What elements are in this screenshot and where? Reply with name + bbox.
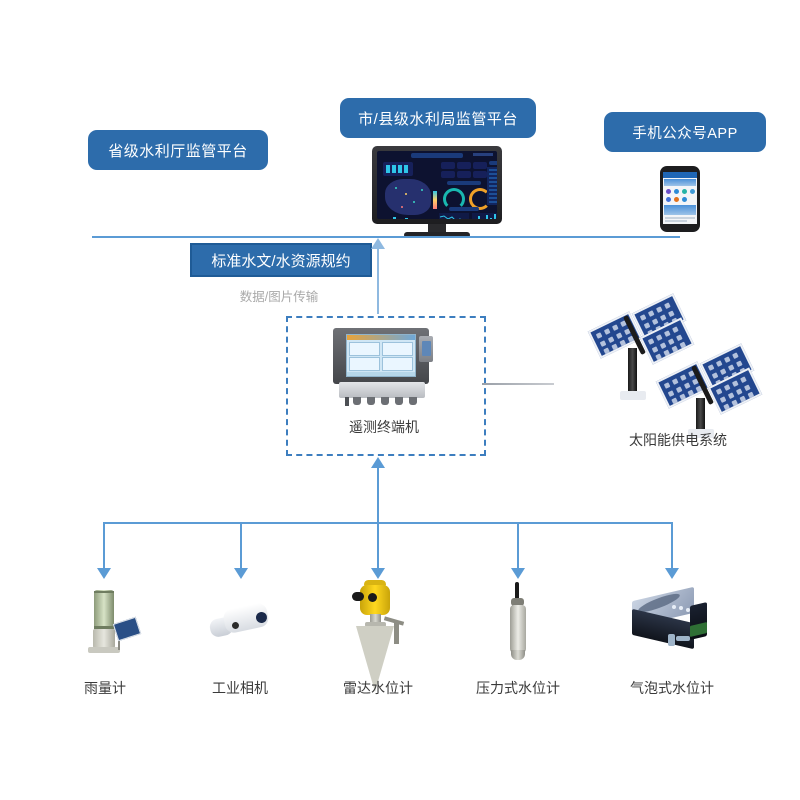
rtu-label: 遥测终端机 <box>286 417 482 437</box>
rtu-screen-panel <box>382 357 413 371</box>
metric-chip <box>457 162 471 169</box>
rtu-cable-gland <box>395 397 403 405</box>
sensor-illustration-rain-gauge <box>78 588 142 660</box>
list-row <box>489 177 497 179</box>
rtu-cable-gland <box>353 397 361 405</box>
list-row <box>489 201 497 203</box>
rtu-device-illustration <box>327 328 441 404</box>
rtu-screen-panel <box>382 342 413 356</box>
network-backbone-line <box>92 236 680 238</box>
donut-section-title <box>447 181 481 185</box>
platform-label-province: 省级水利厅监管平台 <box>108 140 248 161</box>
rtu-cable-gland <box>409 397 417 405</box>
line-chart-path <box>439 213 469 219</box>
platform-chip-app[interactable]: 手机公众号APP <box>604 112 766 152</box>
phone-app-header <box>663 172 697 178</box>
list-row <box>489 189 497 191</box>
list-row <box>489 169 497 171</box>
map-legend <box>433 191 437 209</box>
rtu-lower-body <box>339 382 425 398</box>
monitor-illustration <box>372 146 502 224</box>
phone-app-icon <box>682 197 687 202</box>
metric-chip <box>457 171 471 178</box>
bar <box>490 218 492 219</box>
list-row <box>489 193 497 195</box>
phone-app-icon <box>666 197 671 202</box>
sensor-label-industrial-camera: 工业相机 <box>180 678 300 698</box>
bubbler-fitting <box>676 636 690 641</box>
rtu-antenna-stub <box>345 397 349 406</box>
map-dot <box>395 187 397 189</box>
phone-app-icon <box>690 189 695 194</box>
bar <box>405 218 408 219</box>
sensor-label-pressure-level: 压力式水位计 <box>458 678 578 698</box>
sensor-illustration-pressure-level <box>504 582 534 664</box>
protocol-box[interactable]: 标准水文/水资源规约 <box>190 243 372 277</box>
bar <box>393 217 396 219</box>
sensor-drop-line-industrial-camera <box>240 522 242 570</box>
metric-chip <box>473 171 487 178</box>
phone-app-icon <box>682 189 687 194</box>
radar-bracket-plate <box>394 621 399 644</box>
phone-app-icon <box>666 189 671 194</box>
bubbler-led <box>686 608 690 612</box>
solar-pole <box>628 348 637 394</box>
sensor-label-radar-level: 雷达水位计 <box>318 678 438 698</box>
sensor-illustration-industrial-camera <box>208 598 276 652</box>
list-row <box>489 173 497 175</box>
rtu-screen-panel <box>349 342 380 356</box>
pressure-sensor-body <box>510 605 526 653</box>
sensor-drop-line-rain-gauge <box>103 522 105 570</box>
bubbler-led <box>679 606 683 610</box>
china-map <box>385 179 431 215</box>
sensor-illustration-radar-level <box>348 580 410 662</box>
rain-gauge-band <box>94 591 114 593</box>
solar-pole <box>696 398 705 432</box>
uplink-line <box>377 248 379 314</box>
rtu-connector-port <box>422 341 431 356</box>
kpi-bar <box>404 165 408 173</box>
protocol-caption: 数据/图片传输 <box>190 286 368 305</box>
pressure-sensor-tip <box>511 650 525 660</box>
kpi-bar <box>392 165 396 173</box>
diagram-canvas: 省级水利厅监管平台 市/县级水利局监管平台 手机公众号APP <box>0 0 800 800</box>
bubbler-led <box>672 605 676 609</box>
phone-illustration <box>660 166 700 232</box>
phone-app-icon <box>674 189 679 194</box>
map-dot <box>413 201 415 203</box>
solar-power-label: 太阳能供电系统 <box>590 430 766 450</box>
bar <box>486 215 488 219</box>
phone-app-list-line <box>665 220 687 222</box>
list-row <box>489 197 497 199</box>
solar-pole-base <box>620 391 646 400</box>
trend-section-title <box>449 207 479 211</box>
kpi-bar <box>386 165 390 173</box>
platform-chip-city[interactable]: 市/县级水利局监管平台 <box>340 98 536 138</box>
bar <box>494 214 496 219</box>
solar-power-illustration <box>588 298 768 438</box>
sensor-label-rain-gauge: 雨量计 <box>45 678 165 698</box>
map-dot <box>405 193 407 195</box>
phone-screen <box>663 172 697 224</box>
phone-app-icon <box>674 197 679 202</box>
rtu-screen-statusbar <box>347 372 415 376</box>
radar-connector <box>352 592 364 601</box>
bubbler-valve <box>668 634 675 646</box>
protocol-label: 标准水文/水资源规约 <box>211 250 350 271</box>
rtu-screen-titlebar <box>347 335 415 340</box>
metric-chip <box>441 171 455 178</box>
map-dot <box>421 189 423 191</box>
rain-gauge-tube <box>94 590 114 628</box>
platform-label-app: 手机公众号APP <box>632 122 738 143</box>
sensor-drop-arrow-icon-radar-level <box>371 568 385 579</box>
phone-app-list-line <box>665 217 695 219</box>
rain-gauge-foot <box>88 647 120 653</box>
metric-chip <box>441 162 455 169</box>
sensor-drop-line-radar-level <box>377 522 379 570</box>
rain-gauge-solar-panel <box>113 617 141 642</box>
sensor-drop-arrow-icon-bubbler-level <box>665 568 679 579</box>
list-row <box>489 181 497 183</box>
platform-label-city: 市/县级水利局监管平台 <box>358 108 518 129</box>
dashboard-header <box>411 153 463 158</box>
sensor-drop-arrow-icon-rain-gauge <box>97 568 111 579</box>
rtu-antenna-rod <box>482 383 554 385</box>
metric-chip <box>473 162 487 169</box>
map-dot <box>401 206 403 208</box>
sensor-drop-line-pressure-level <box>517 522 519 570</box>
rain-gauge-body <box>93 629 115 648</box>
dashboard-header-right <box>473 153 493 156</box>
rtu-cable-gland <box>381 397 389 405</box>
sensor-drop-arrow-icon-pressure-level <box>511 568 525 579</box>
monitor-screen <box>377 151 497 219</box>
bar <box>478 216 480 219</box>
sensor-illustration-bubbler-level <box>628 588 712 654</box>
platform-chip-province[interactable]: 省级水利厅监管平台 <box>88 130 268 170</box>
sensor-drop-line-bubbler-level <box>671 522 673 570</box>
radar-port <box>368 593 377 602</box>
phone-app-photo <box>664 205 696 215</box>
kpi-bar <box>398 165 402 173</box>
rtu-cable-gland <box>367 397 375 405</box>
sensor-label-bubbler-level: 气泡式水位计 <box>612 678 732 698</box>
list-row <box>489 185 497 187</box>
list-panel-title <box>489 161 497 165</box>
sensor-uplink-line <box>377 466 379 524</box>
sensor-bus-line <box>103 522 673 524</box>
rtu-screen-panel <box>349 357 380 371</box>
uplink-arrow-icon <box>371 238 385 249</box>
sensor-drop-arrow-icon-industrial-camera <box>234 568 248 579</box>
phone-app-banner <box>664 179 696 186</box>
